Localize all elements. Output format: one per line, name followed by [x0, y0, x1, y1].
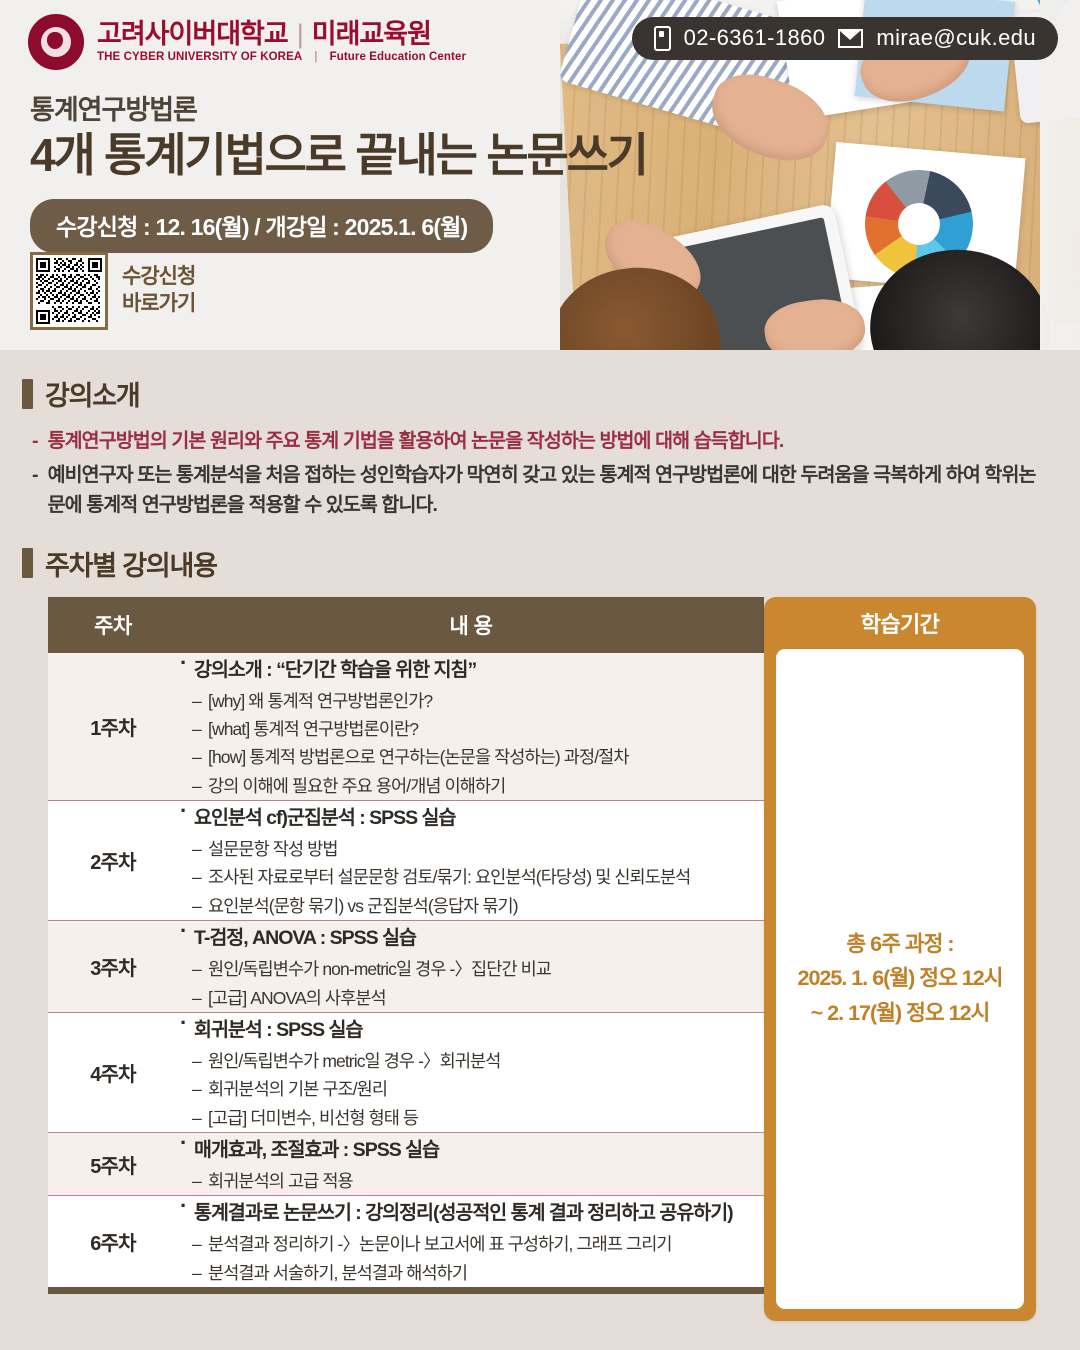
- row-week-label: 5주차: [48, 1132, 178, 1195]
- row-lead: 통계결과로 논문쓰기 : 강의정리(성공적인 통계 결과 정리하고 공유하기): [178, 1196, 764, 1225]
- hero-title: 4개 통계기법으로 끝내는 논문쓰기: [30, 129, 647, 182]
- column-header-week: 주차: [48, 597, 178, 653]
- row-sub: [고급] ANOVA의 사후분석: [178, 984, 764, 1012]
- intro-bullet-list: - 통계연구방법의 기본 원리와 주요 통계 기법을 활용하여 논문을 작성하는…: [32, 427, 1040, 520]
- brand-name-kr: 고려사이버대학교: [97, 21, 288, 48]
- brand-logo-text: 고려사이버대학교 | 미래교육원 THE CYBER UNIVERSITY OF…: [97, 21, 466, 64]
- poster-body: 강의소개 - 통계연구방법의 기본 원리와 주요 통계 기법을 활용하여 논문을…: [0, 374, 1080, 1327]
- study-period-title: 학습기간: [764, 597, 1036, 649]
- qr-apply-label: 수강신청 바로가기: [122, 264, 195, 318]
- study-period-card: 총 6주 과정 : 2025. 1. 6(월) 정오 12시 ~ 2. 17(월…: [776, 649, 1024, 1309]
- contact-email[interactable]: mirae@cuk.edu: [876, 25, 1036, 51]
- study-period-line1: 총 6주 과정 :: [846, 932, 953, 956]
- table-row: 3주차 T-검정, ANOVA : SPSS 실습 원인/독립변수가 non-m…: [48, 921, 764, 1013]
- brand-center-en: Future Education Center: [330, 52, 466, 64]
- brand-divider-en: |: [314, 52, 317, 64]
- row-sub: 설문문항 작성 방법: [178, 835, 764, 863]
- bullet-dash: -: [32, 461, 38, 520]
- table-row: 4주차 회귀분석 : SPSS 실습 원인/독립변수가 metric일 경우 -…: [48, 1012, 764, 1132]
- mail-icon: [838, 29, 863, 48]
- bullet-dash: -: [32, 427, 38, 456]
- row-sub: [how] 통계적 방법론으로 연구하는(논문을 작성하는) 과정/절차: [178, 743, 764, 771]
- contact-phone[interactable]: 02-6361-1860: [684, 25, 826, 51]
- intro-section-heading: 강의소개: [22, 374, 1080, 413]
- enrollment-date-badge: 수강신청 : 12. 16(월) / 개강일 : 2025.1. 6(월): [30, 199, 493, 253]
- section-marker-bar: [22, 548, 33, 578]
- row-sub: 회귀분석의 고급 적용: [178, 1167, 764, 1195]
- row-content: 강의소개 : “단기간 학습을 위한 지침” [why] 왜 통계적 연구방법론…: [178, 653, 764, 801]
- row-sub: 조사된 자료로부터 설문문항 검토/묶기: 요인분석(타당성) 및 신뢰도분석: [178, 863, 764, 891]
- row-content: 매개효과, 조절효과 : SPSS 실습 회귀분석의 고급 적용: [178, 1132, 764, 1195]
- row-week-label: 1주차: [48, 653, 178, 801]
- row-lead: 강의소개 : “단기간 학습을 위한 지침”: [178, 653, 764, 682]
- qr-apply-block[interactable]: 수강신청 바로가기: [30, 252, 195, 330]
- section-marker-bar: [22, 379, 33, 409]
- study-period-line3: ~ 2. 17(월) 정오 12시: [811, 1001, 990, 1025]
- qr-code-icon[interactable]: [30, 252, 108, 330]
- row-content: 요인분석 cf)군집분석 : SPSS 실습 설문문항 작성 방법 조사된 자료…: [178, 801, 764, 921]
- qr-label-line2: 바로가기: [122, 291, 195, 318]
- brand-logo[interactable]: 고려사이버대학교 | 미래교육원 THE CYBER UNIVERSITY OF…: [28, 14, 466, 70]
- brand-divider: |: [297, 21, 303, 48]
- university-seal-icon: [28, 14, 84, 70]
- row-week-label: 3주차: [48, 921, 178, 1013]
- row-sub: 원인/독립변수가 metric일 경우 -〉회귀분석: [178, 1047, 764, 1075]
- row-sub: 요인분석(문항 묶기) vs 군집분석(응답자 묶기): [178, 892, 764, 920]
- row-lead: T-검정, ANOVA : SPSS 실습: [178, 921, 764, 950]
- brand-center-kr: 미래교육원: [312, 21, 431, 48]
- intro-bullet: - 통계연구방법의 기본 원리와 주요 통계 기법을 활용하여 논문을 작성하는…: [32, 427, 1040, 456]
- row-content: 회귀분석 : SPSS 실습 원인/독립변수가 metric일 경우 -〉회귀분…: [178, 1012, 764, 1132]
- intro-heading-text: 강의소개: [45, 374, 140, 413]
- intro-bullet-text: 예비연구자 또는 통계분석을 처음 접하는 성인학습자가 막연히 갖고 있는 통…: [48, 461, 1040, 520]
- row-sub: 분석결과 정리하기 -〉논문이나 보고서에 표 구성하기, 그래프 그리기: [178, 1230, 764, 1258]
- brand-name-en: THE CYBER UNIVERSITY OF KOREA: [97, 52, 302, 64]
- hero-title-block: 통계연구방법론 4개 통계기법으로 끝내는 논문쓰기: [30, 88, 647, 182]
- poster-header: 고려사이버대학교 | 미래교육원 THE CYBER UNIVERSITY OF…: [0, 0, 1080, 350]
- study-period-line2: 2025. 1. 6(월) 정오 12시: [798, 966, 1003, 990]
- row-sub: [고급] 더미변수, 비선형 형태 등: [178, 1104, 764, 1132]
- row-sub: 원인/독립변수가 non-metric일 경우 -〉집단간 비교: [178, 955, 764, 983]
- table-header-row: 주차 내 용: [48, 597, 764, 653]
- table-row: 1주차 강의소개 : “단기간 학습을 위한 지침” [why] 왜 통계적 연…: [48, 653, 764, 801]
- qr-label-line1: 수강신청: [122, 264, 195, 291]
- row-sub: 분석결과 서술하기, 분석결과 해석하기: [178, 1259, 764, 1287]
- study-period-panel: 학습기간 총 6주 과정 : 2025. 1. 6(월) 정오 12시 ~ 2.…: [764, 597, 1036, 1321]
- contact-bar: 02-6361-1860 mirae@cuk.edu: [632, 17, 1058, 60]
- row-lead: 매개효과, 조절효과 : SPSS 실습: [178, 1133, 764, 1162]
- row-week-label: 4주차: [48, 1012, 178, 1132]
- row-lead: 회귀분석 : SPSS 실습: [178, 1013, 764, 1042]
- phone-icon: [654, 26, 671, 51]
- row-week-label: 6주차: [48, 1196, 178, 1291]
- curriculum-table: 주차 내 용 1주차 강의소개 : “단기간 학습을 위한 지침” [why] …: [48, 597, 764, 1294]
- row-content: T-검정, ANOVA : SPSS 실습 원인/독립변수가 non-metri…: [178, 921, 764, 1013]
- table-row: 2주차 요인분석 cf)군집분석 : SPSS 실습 설문문항 작성 방법 조사…: [48, 801, 764, 921]
- intro-bullet-text: 통계연구방법의 기본 원리와 주요 통계 기법을 활용하여 논문을 작성하는 방…: [48, 427, 784, 456]
- table-row: 6주차 통계결과로 논문쓰기 : 강의정리(성공적인 통계 결과 정리하고 공유…: [48, 1196, 764, 1291]
- hero-subtitle: 통계연구방법론: [30, 88, 647, 127]
- row-week-label: 2주차: [48, 801, 178, 921]
- curriculum-heading-text: 주차별 강의내용: [45, 544, 217, 583]
- column-header-content: 내 용: [178, 597, 764, 653]
- row-sub: [what] 통계적 연구방법론이란?: [178, 715, 764, 743]
- curriculum-section-heading: 주차별 강의내용: [22, 544, 1080, 583]
- intro-bullet: - 예비연구자 또는 통계분석을 처음 접하는 성인학습자가 막연히 갖고 있는…: [32, 461, 1040, 520]
- row-sub: 강의 이해에 필요한 주요 용어/개념 이해하기: [178, 772, 764, 800]
- curriculum-grid: 주차 내 용 1주차 강의소개 : “단기간 학습을 위한 지침” [why] …: [0, 597, 1080, 1327]
- table-row: 5주차 매개효과, 조절효과 : SPSS 실습 회귀분석의 고급 적용: [48, 1132, 764, 1195]
- row-content: 통계결과로 논문쓰기 : 강의정리(성공적인 통계 결과 정리하고 공유하기) …: [178, 1196, 764, 1291]
- row-sub: [why] 왜 통계적 연구방법론인가?: [178, 687, 764, 715]
- row-lead: 요인분석 cf)군집분석 : SPSS 실습: [178, 801, 764, 830]
- row-sub: 회귀분석의 기본 구조/원리: [178, 1075, 764, 1103]
